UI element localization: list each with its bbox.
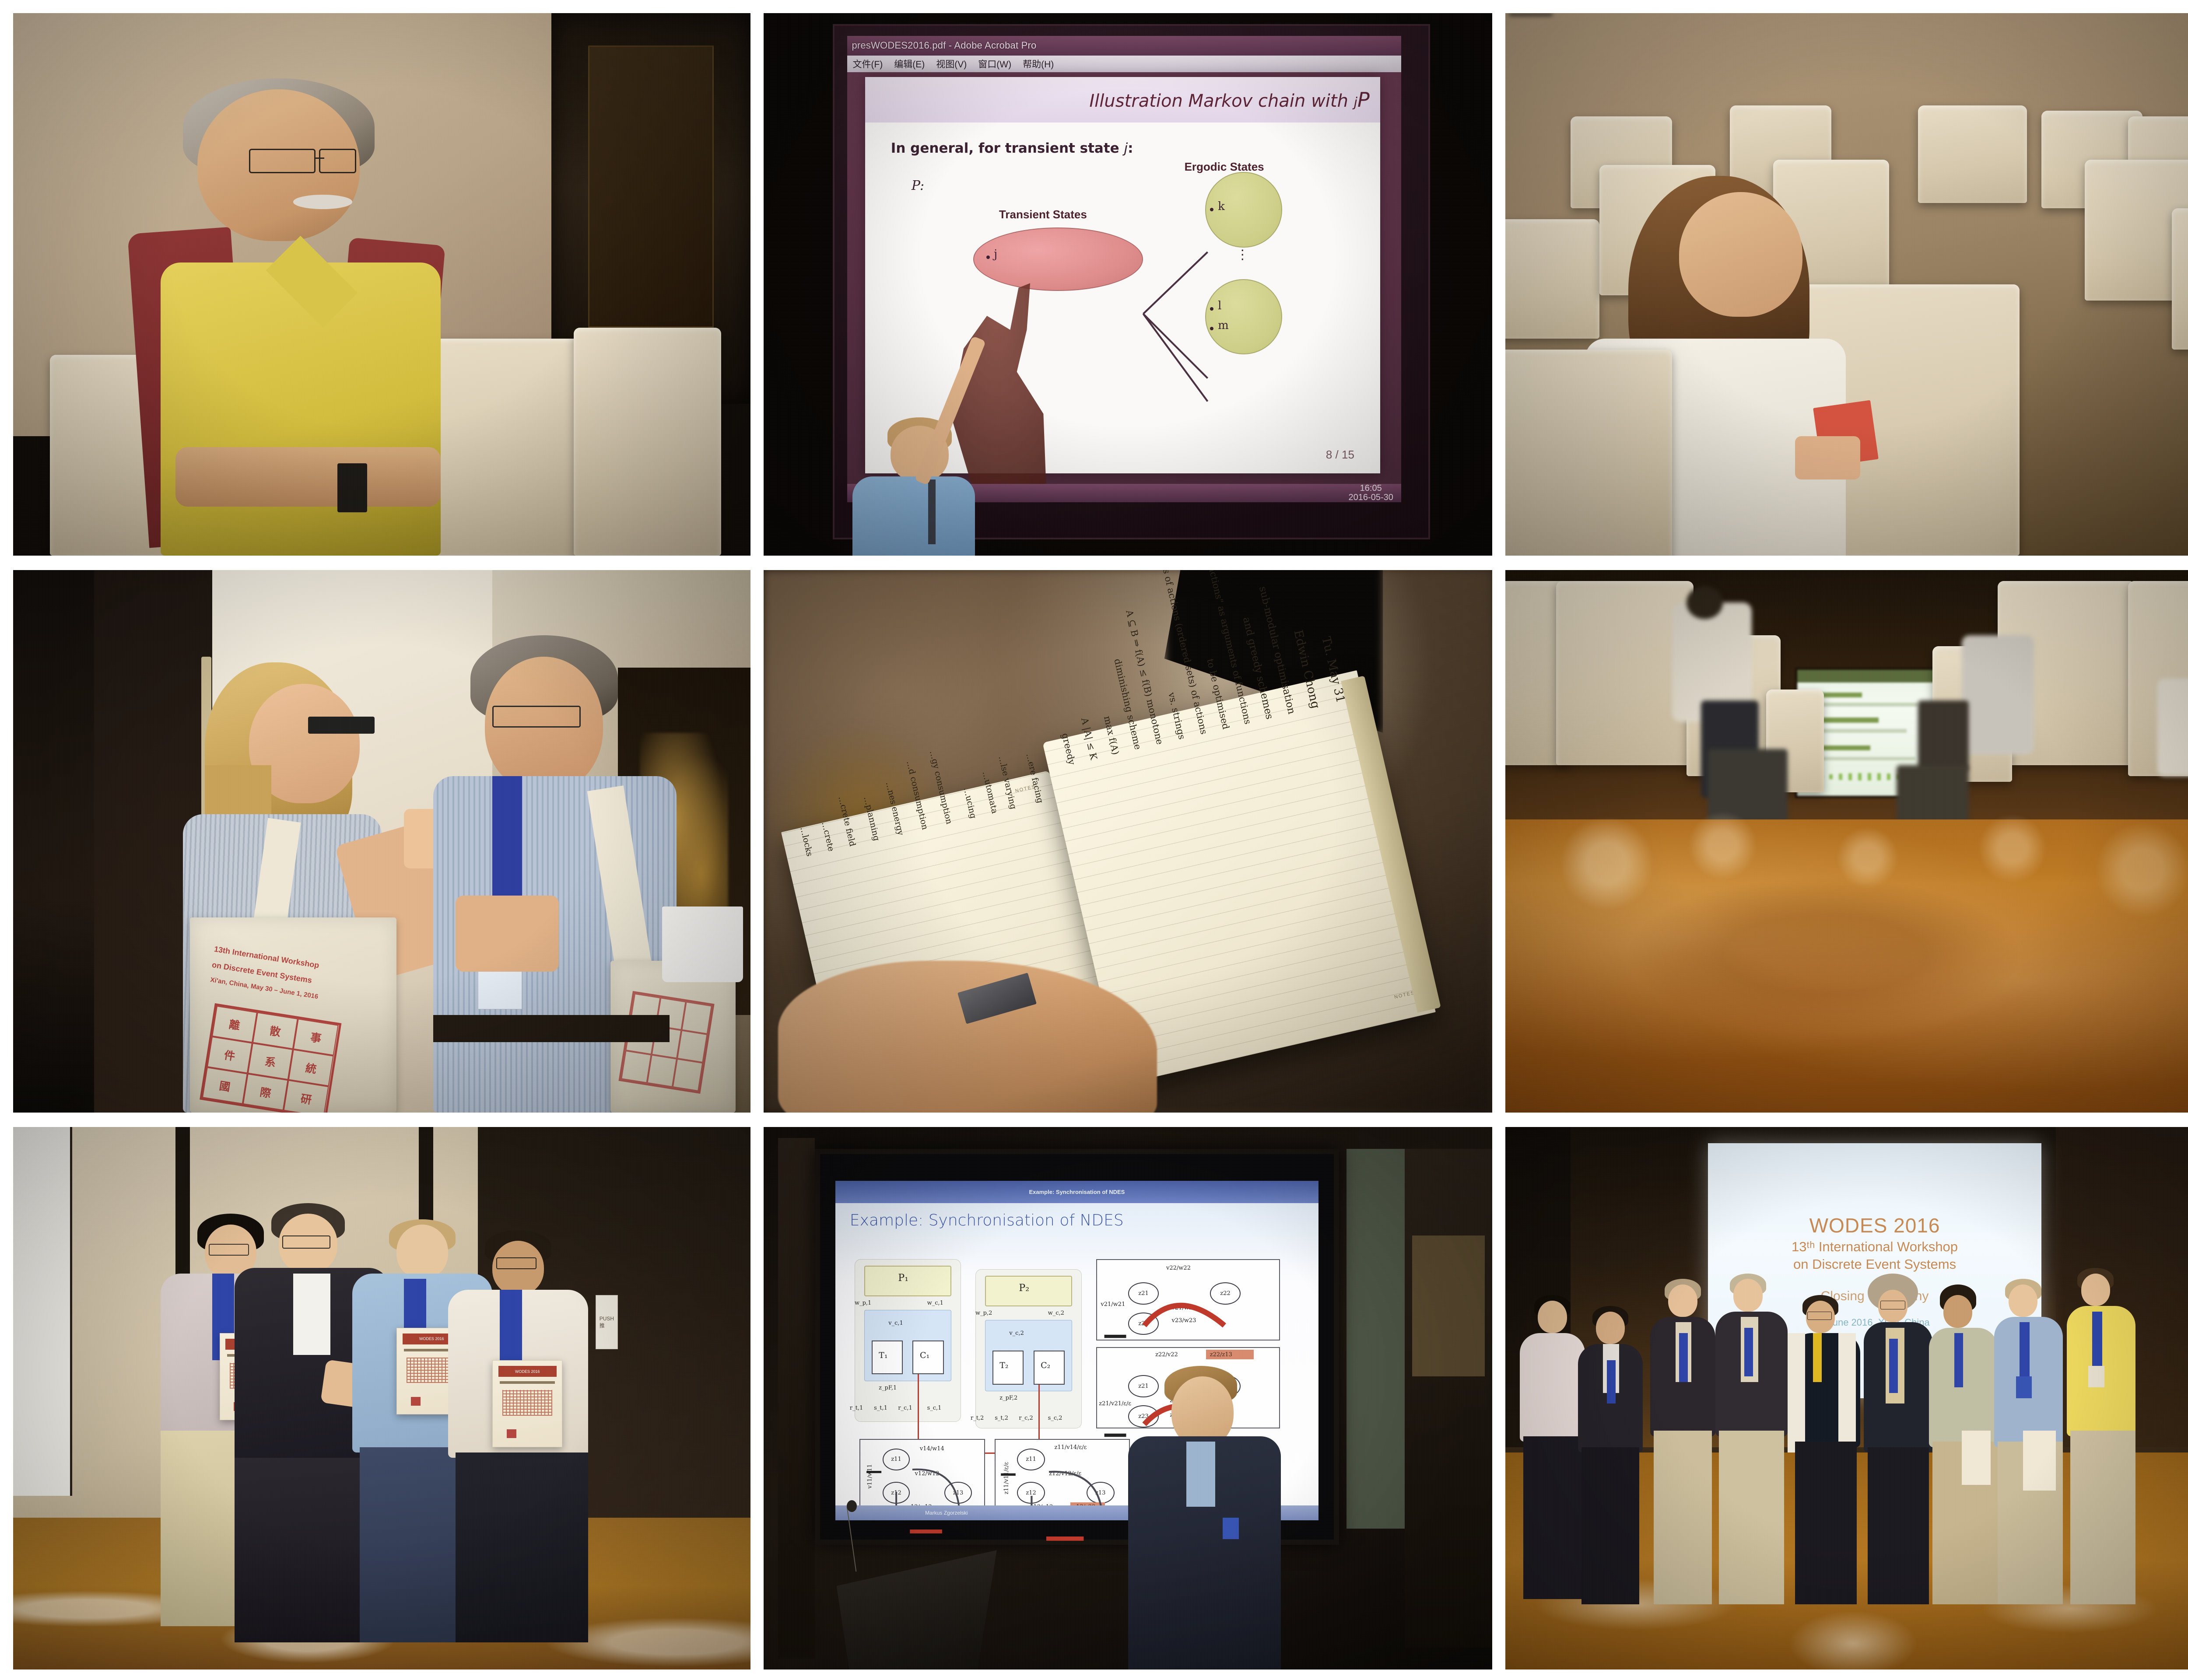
photo-handwritten-notes: NOTES …ere facing …lse varying …utomata … — [764, 570, 1492, 1113]
photo-closing-ceremony-group: WODES 2016 13ᵗʰ International Workshop o… — [1505, 1127, 2188, 1669]
photo-collage: presWODES2016.pdf - Adobe Acrobat Pro 文件… — [0, 0, 2188, 1680]
photo-best-paper-award: PUSH推 WODES 2016 — [13, 1127, 750, 1669]
photo-markov-chain-talk: presWODES2016.pdf - Adobe Acrobat Pro 文件… — [764, 13, 1492, 556]
photo-audience-rows — [1505, 13, 2188, 556]
photo-audience-yellow-polo — [13, 13, 750, 556]
photo-coffee-break-networking: 13th International Workshop on Discrete … — [13, 570, 750, 1113]
photo-ndes-synchronisation-talk: Example: Synchronisation of NDES Example… — [764, 1127, 1492, 1669]
photo-ballroom-aisle — [1505, 570, 2188, 1113]
